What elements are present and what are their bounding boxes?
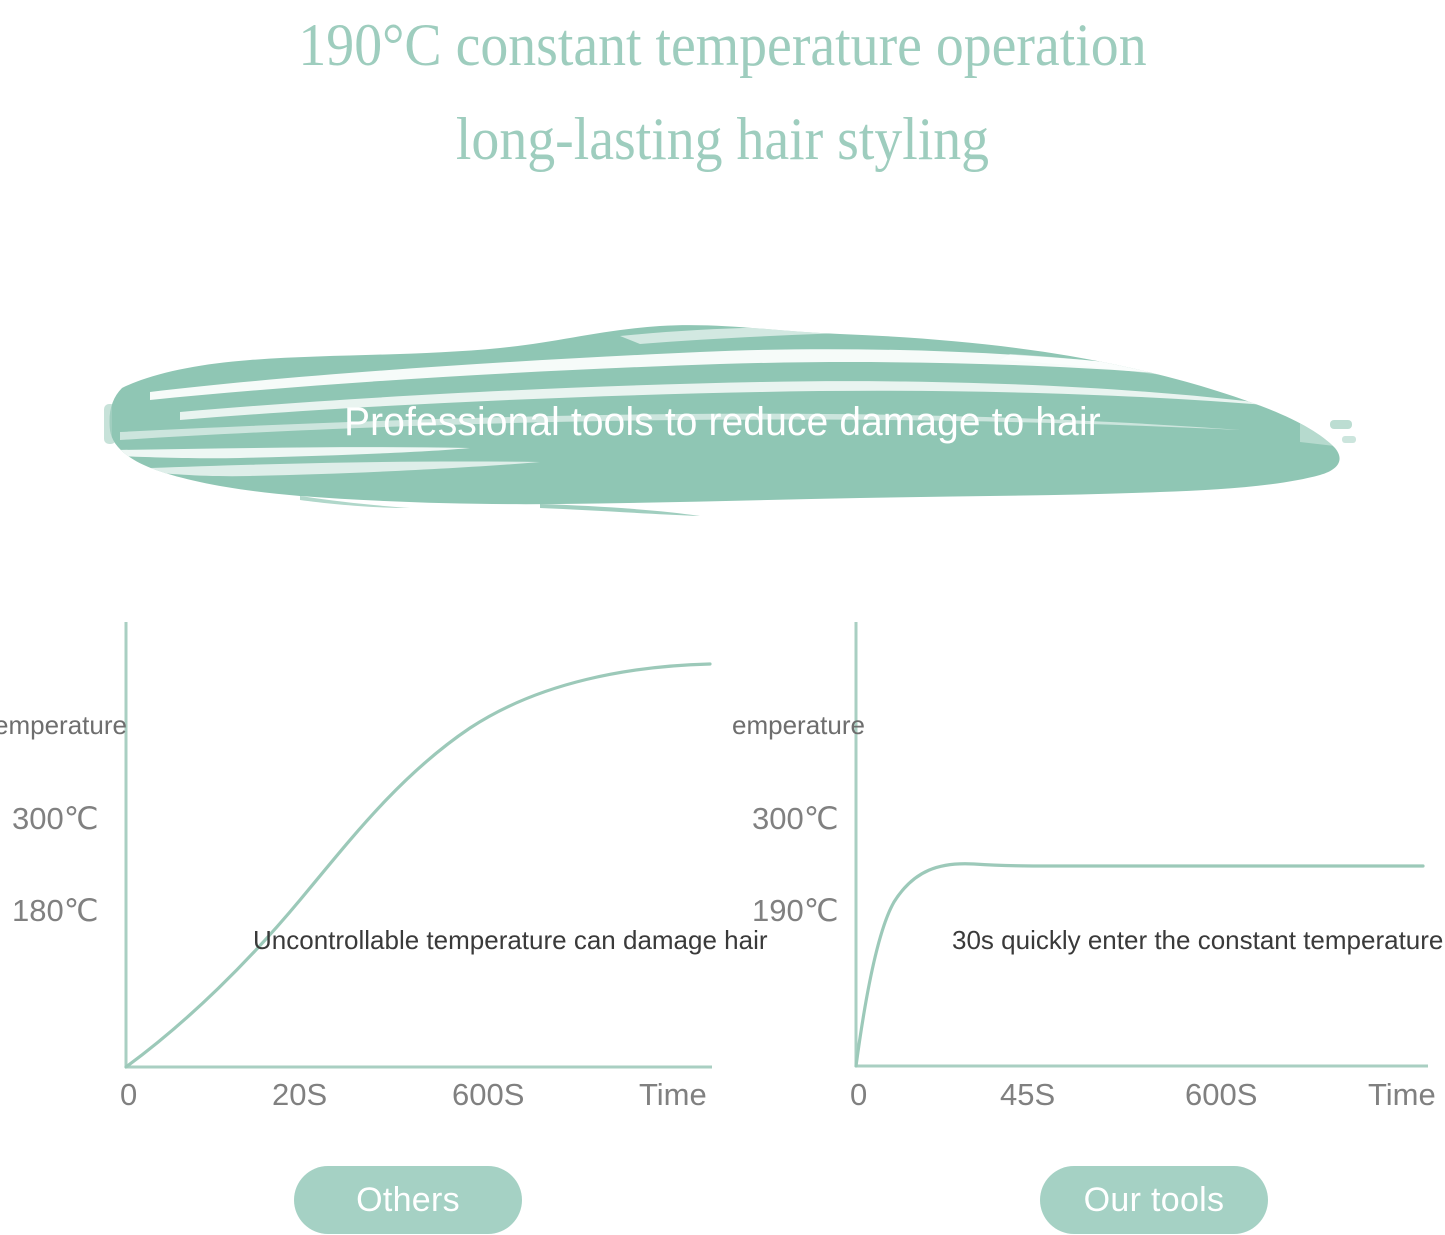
label-pill-others: Others: [294, 1166, 522, 1234]
x-tick-0: 0: [120, 1078, 137, 1112]
x-axis-title: Time: [639, 1078, 707, 1112]
chart-others-plot: [0, 600, 730, 1140]
x-tick-600s: 600S: [452, 1078, 524, 1112]
chart-annotation: Uncontrollable temperature can damage ha…: [253, 925, 768, 955]
page-title-line-1: 190°C constant temperature operation: [51, 6, 1395, 84]
temperature-curve: [856, 864, 1423, 1066]
chart-annotation: 30s quickly enter the constant temperatu…: [952, 925, 1445, 955]
chart-others: emperature 300℃ 180℃ 0 20S 600S Time Unc…: [0, 600, 730, 1140]
page-title: 190°C constant temperature operation lon…: [51, 0, 1395, 178]
banner-text: Professional tools to reduce damage to h…: [22, 396, 1424, 448]
x-tick-20s: 20S: [272, 1078, 327, 1112]
page-title-line-2: long-lasting hair styling: [51, 100, 1395, 178]
y-axis-title: emperature: [732, 710, 865, 740]
y-axis-title: emperature: [0, 710, 127, 740]
temperature-curve: [126, 664, 710, 1067]
label-pill-our-tools: Our tools: [1040, 1166, 1268, 1234]
x-tick-0: 0: [850, 1078, 867, 1112]
chart-our-tools: emperature 300℃ 190℃ 0 45S 600S Time 30s…: [728, 600, 1445, 1140]
x-axis-title: Time: [1368, 1078, 1436, 1112]
y-tick-180: 180℃: [12, 894, 99, 928]
x-tick-45s: 45S: [1000, 1078, 1055, 1112]
y-tick-300: 300℃: [752, 802, 839, 836]
chart-our-tools-plot: [728, 600, 1445, 1140]
y-tick-300: 300℃: [12, 802, 99, 836]
x-tick-600s: 600S: [1185, 1078, 1257, 1112]
y-tick-190: 190℃: [752, 894, 839, 928]
brush-banner: Professional tools to reduce damage to h…: [0, 300, 1445, 530]
